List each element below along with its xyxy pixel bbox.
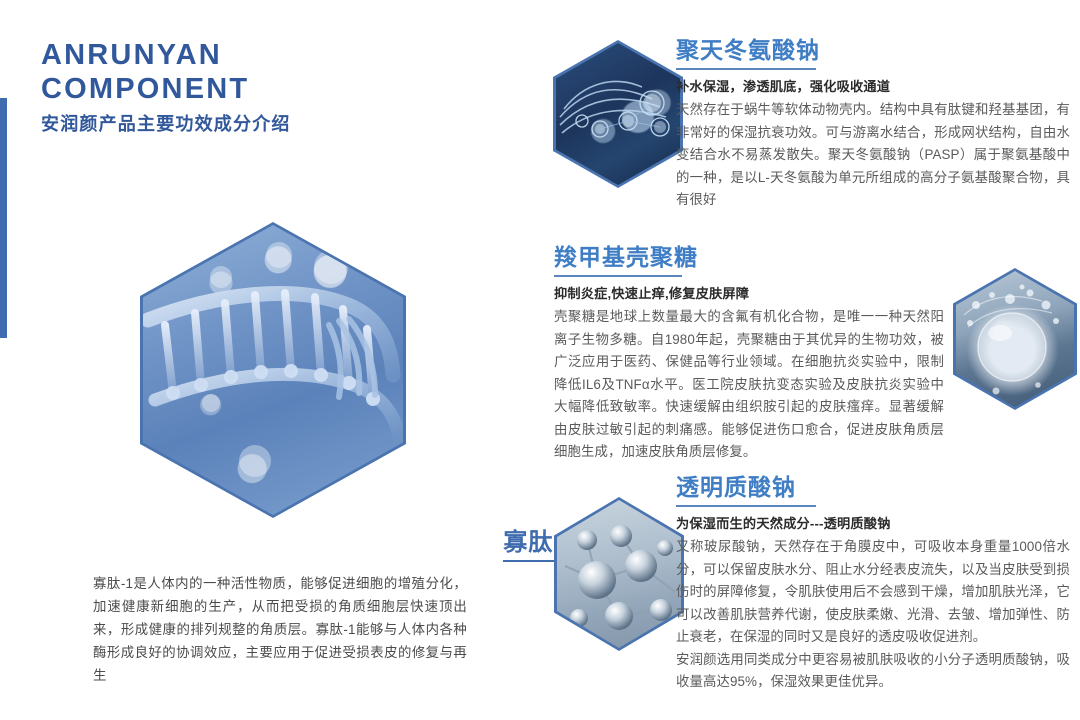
page-subtitle: 安润颜产品主要功效成分介绍 — [41, 112, 461, 136]
section-title: 聚天冬氨酸钠 — [676, 36, 1070, 64]
section-polyaspartate: 聚天冬氨酸钠 补水保湿，渗透肌底，强化吸收通道 天然存在于蜗牛等软体动物壳内。结… — [676, 36, 1070, 212]
left-feature-body: 寡肽-1是人体内的一种活性物质，能够促进细胞的增殖分化，加速健康新细胞的生产，从… — [93, 572, 467, 687]
molecular-flow-hexagon — [553, 40, 677, 182]
brand-title-line1: ANRUNYAN — [41, 38, 461, 72]
dna-helix-artwork — [143, 225, 403, 515]
water-droplet-hexagon — [953, 268, 1071, 404]
molecular-flow-artwork — [556, 43, 680, 185]
section-title: 羧甲基壳聚糖 — [554, 243, 944, 271]
left-accent-bar — [0, 98, 7, 338]
section-title-rule — [676, 505, 816, 507]
dna-helix-hexagon — [140, 222, 400, 512]
section-body: 壳聚糖是地球上数量最大的含氟有机化合物，是唯一一种天然阳离子生物多糖。自1980… — [554, 306, 944, 464]
section-title-rule — [676, 68, 816, 70]
molecule-spheres-artwork — [557, 500, 681, 648]
section-subtitle: 补水保湿，渗透肌底，强化吸收通道 — [676, 77, 1070, 97]
section-title-rule — [554, 275, 682, 277]
section-subtitle: 抑制炎症,快速止痒,修复皮肤屏障 — [554, 284, 944, 304]
page-header: ANRUNYAN COMPONENT 安润颜产品主要功效成分介绍 — [41, 38, 461, 136]
section-title: 透明质酸钠 — [676, 473, 1070, 501]
poster-canvas: ANRUNYAN COMPONENT 安润颜产品主要功效成分介绍 — [0, 0, 1080, 720]
brand-title-line2: COMPONENT — [41, 72, 461, 106]
section-body: 又称玻尿酸钠，天然存在于角膜皮中，可吸收本身重量1000倍水分，可以保留皮肤水分… — [676, 536, 1070, 694]
section-sodium-hyaluronate: 透明质酸钠 为保湿而生的天然成分---透明质酸钠 又称玻尿酸钠，天然存在于角膜皮… — [676, 473, 1070, 694]
section-subtitle: 为保湿而生的天然成分---透明质酸钠 — [676, 514, 1070, 534]
section-carboxymethyl-chitosan: 羧甲基壳聚糖 抑制炎症,快速止痒,修复皮肤屏障 壳聚糖是地球上数量最大的含氟有机… — [554, 243, 944, 464]
section-body: 天然存在于蜗牛等软体动物壳内。结构中具有肽键和羟基基团，有非常好的保湿抗衰功效。… — [676, 99, 1070, 212]
molecule-spheres-hexagon — [554, 497, 678, 645]
water-droplet-artwork — [956, 271, 1074, 407]
